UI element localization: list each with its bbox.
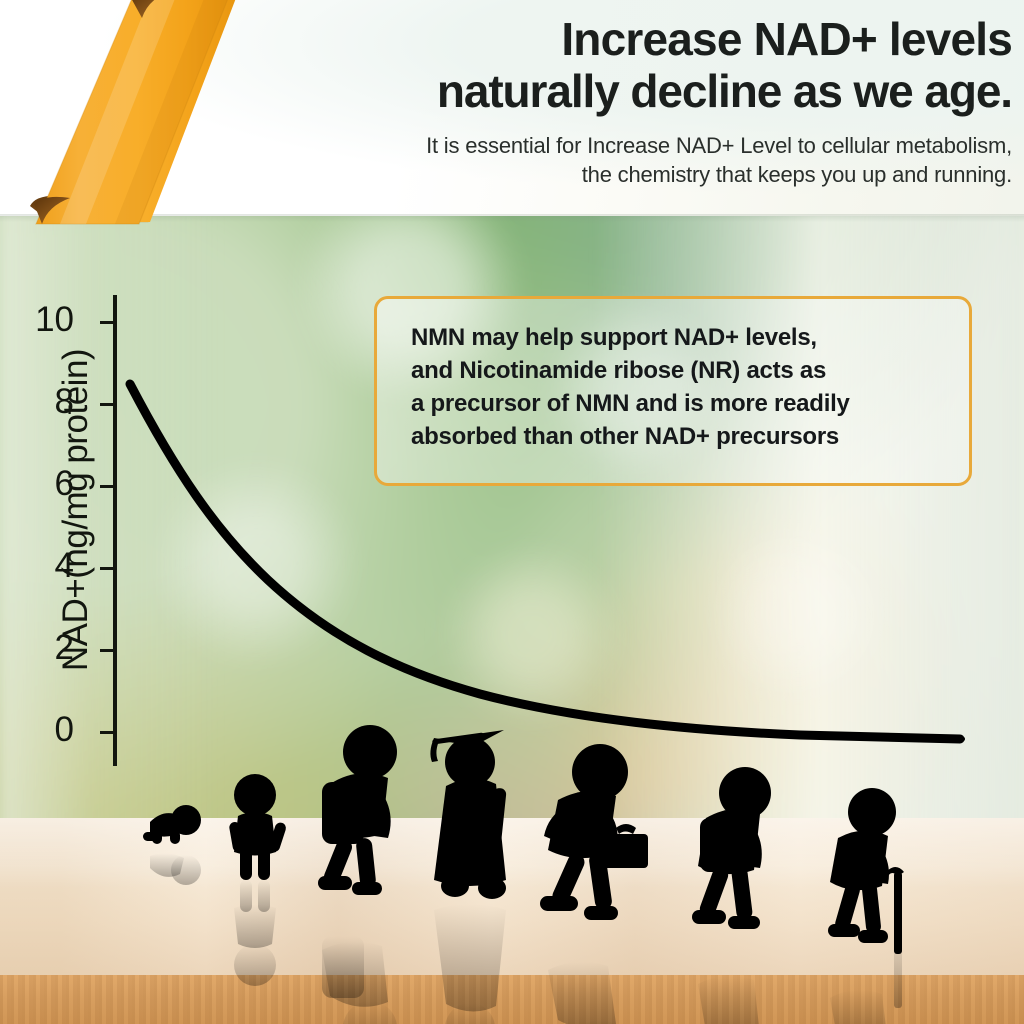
figure-middle-aged-hunched <box>692 767 771 1024</box>
nmn-info-callout: NMN may help support NAD+ levels, and Ni… <box>374 296 972 486</box>
figure-crawling-baby <box>143 805 201 885</box>
page-subtitle: It is essential for Increase NAD+ Level … <box>300 131 1012 189</box>
page-title-line-2: naturally decline as we age. <box>300 66 1012 118</box>
callout-line-2: and Nicotinamide ribose (NR) acts as <box>411 354 945 387</box>
nad-infographic-poster: Increase NAD+ levels naturally decline a… <box>0 0 1024 1024</box>
figure-student-with-backpack <box>318 725 397 1024</box>
figure-graduate-with-cap <box>430 730 506 1024</box>
page-title-line-1: Increase NAD+ levels <box>300 14 1012 66</box>
page-subtitle-line-1: It is essential for Increase NAD+ Level … <box>300 131 1012 160</box>
callout-line-3: a precursor of NMN and is more readily <box>411 387 945 420</box>
figure-elderly-with-cane <box>828 788 904 1024</box>
page-subtitle-line-2: the chemistry that keeps you up and runn… <box>300 160 1012 189</box>
figure-adult-with-briefcase <box>540 744 648 1024</box>
callout-line-4: absorbed than other NAD+ precursors <box>411 420 945 453</box>
figure-toddler <box>228 774 287 986</box>
callout-line-1: NMN may help support NAD+ levels, <box>411 321 945 354</box>
header-text-block: Increase NAD+ levels naturally decline a… <box>300 14 1012 189</box>
